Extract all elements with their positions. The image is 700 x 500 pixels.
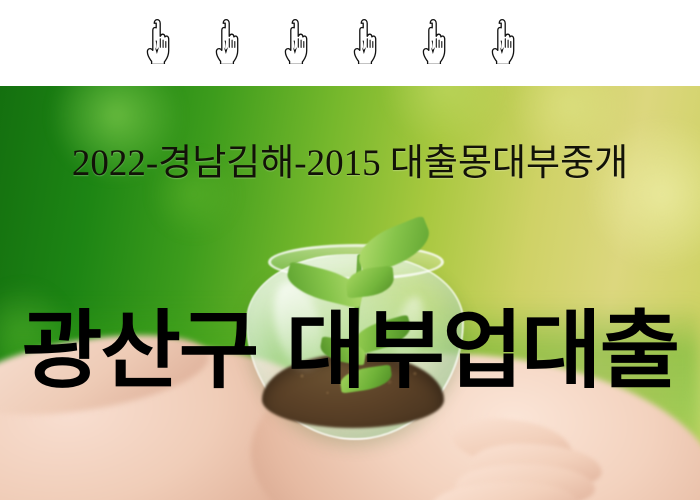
pointing-up-hand-icon bbox=[284, 18, 308, 64]
top-white-bar bbox=[0, 0, 700, 86]
pointing-hand-icon-row bbox=[146, 18, 566, 68]
pointing-up-hand-icon bbox=[353, 18, 377, 64]
plant-leaf bbox=[345, 266, 396, 299]
banner-page: 2022-경남김해-2015 대출몽대부중개 광산구 대부업대출 bbox=[0, 0, 700, 500]
banner-subtitle: 2022-경남김해-2015 대출몽대부중개 bbox=[0, 142, 700, 186]
pointing-up-hand-icon bbox=[491, 18, 515, 64]
banner-headline: 광산구 대부업대출 bbox=[0, 306, 700, 398]
pointing-up-hand-icon bbox=[146, 18, 170, 64]
pointing-up-hand-icon bbox=[422, 18, 446, 64]
pointing-up-hand-icon bbox=[215, 18, 239, 64]
